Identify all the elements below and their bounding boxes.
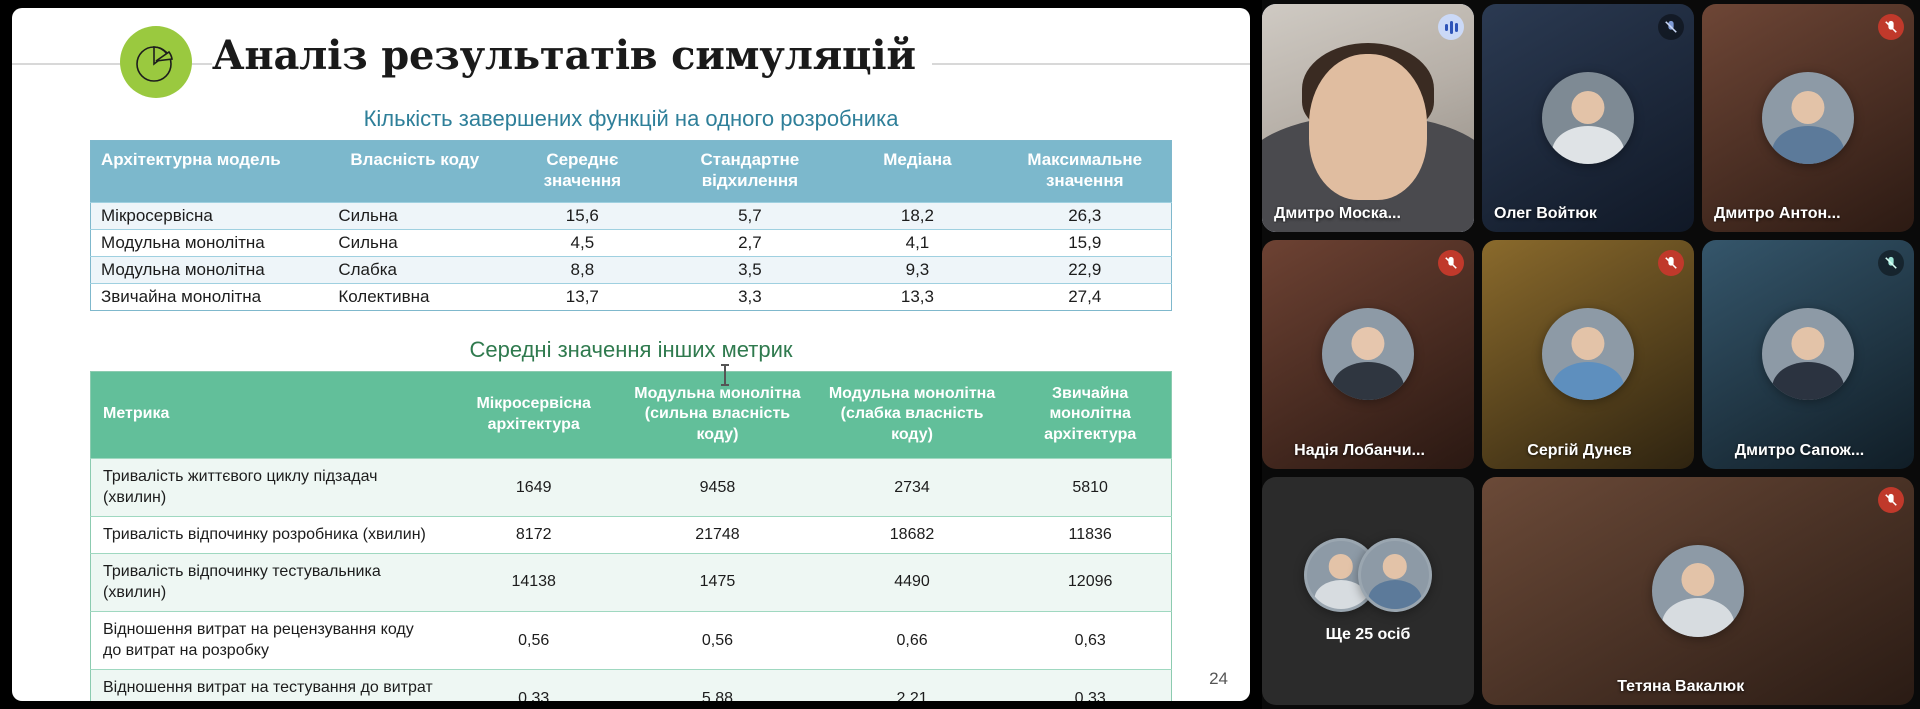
cell: 3,5 [663,256,836,283]
mic-muted-icon [1878,250,1904,276]
avatar [1542,72,1634,164]
table-header-row: Метрика Мікросервісна архітектура Модуль… [91,371,1172,458]
avatar [1652,545,1744,637]
cell: 0,33 [447,670,620,701]
table-row: Тривалість відпочинку розробника (хвилин… [91,517,1172,554]
participant-tile-tetiana-vakaliuk[interactable]: Тетяна Вакалюк [1482,477,1914,705]
table-row: Мікросервісна Сильна 15,6 5,7 18,2 26,3 [91,202,1172,229]
cell: Звичайна монолітна [91,283,329,310]
cell: 18,2 [836,202,998,229]
cell: Відношення витрат на тестування до витра… [91,670,448,701]
cell: Сильна [328,229,501,256]
cell: Модульна монолітна [91,256,329,283]
cell: 1475 [620,553,815,611]
column-header: Стандартне відхилення [663,141,836,203]
cell: 27,4 [999,283,1172,310]
cell: Тривалість відпочинку тестувальника (хви… [91,553,448,611]
cell: 5810 [1009,458,1171,516]
mic-muted-icon [1438,250,1464,276]
column-header: Середнє значення [501,141,663,203]
participant-tile-serhii-duniev[interactable]: Сергій Дунєв [1482,240,1694,468]
participant-name: Сергій Дунєв [1482,442,1677,460]
cell: 18682 [815,517,1010,554]
column-header: Максимальне значення [999,141,1172,203]
avatar [1322,308,1414,400]
cell: 1649 [447,458,620,516]
table-row: Відношення витрат на рецензування коду д… [91,611,1172,669]
table1-caption: Кількість завершених функцій на одного р… [12,106,1250,132]
participant-name: Надія Лобанчи... [1262,442,1457,460]
participant-video [1262,4,1474,232]
cell: 15,9 [999,229,1172,256]
page-title: Аналіз результатів симуляцій [212,32,932,79]
column-header: Архітектурна модель [91,141,329,203]
cell: 9,3 [836,256,998,283]
slide-page-number: 24 [1209,669,1228,689]
cell: 2734 [815,458,1010,516]
cell: 3,3 [663,283,836,310]
mic-muted-icon [1878,14,1904,40]
table1-container: Архітектурна модель Власність коду Серед… [12,140,1250,311]
participant-name: Дмитро Сапож... [1702,442,1897,460]
participant-name: Дмитро Антон... [1714,205,1841,223]
cell: 2,21 [815,670,1010,701]
slide-header: Аналіз результатів симуляцій [12,8,1250,100]
avatar [1358,538,1432,612]
cell: Відношення витрат на рецензування коду д… [91,611,448,669]
cell: Слабка [328,256,501,283]
cell: 0,63 [1009,611,1171,669]
table-row: Звичайна монолітна Колективна 13,7 3,3 1… [91,283,1172,310]
table-row: Модульна монолітна Сильна 4,5 2,7 4,1 15… [91,229,1172,256]
table2-container: Метрика Мікросервісна архітектура Модуль… [12,371,1250,702]
avatar-group [1314,538,1422,612]
table-row: Тривалість життєвого циклу підзадач (хви… [91,458,1172,516]
participant-name: Тетяна Вакалюк [1482,678,1879,696]
participant-name: Дмитро Москa... [1274,205,1401,223]
participant-tile-dmytro-anton[interactable]: Дмитро Антон... [1702,4,1914,232]
cell: Тривалість життєвого циклу підзадач (хви… [91,458,448,516]
column-header: Мікросервісна архітектура [447,371,620,458]
participant-tile-more-people[interactable]: Ще 25 осіб [1262,477,1474,705]
shared-screen-stage[interactable]: Аналіз результатів симуляцій Кількість з… [0,0,1262,709]
cell: Модульна монолітна [91,229,329,256]
cell: 8172 [447,517,620,554]
table-row: Модульна монолітна Слабка 8,8 3,5 9,3 22… [91,256,1172,283]
cell: 2,7 [663,229,836,256]
table-row: Відношення витрат на тестування до витра… [91,670,1172,701]
cell: 21748 [620,517,815,554]
cell: 15,6 [501,202,663,229]
cell: 0,33 [1009,670,1171,701]
mic-muted-icon [1658,250,1684,276]
cell: Мікросервісна [91,202,329,229]
cell: 5,88 [620,670,815,701]
cell: 0,66 [815,611,1010,669]
participant-tile-nadiia-lobanchy[interactable]: Надія Лобанчи... [1262,240,1474,468]
meeting-screen-share-view: Аналіз результатів симуляцій Кількість з… [0,0,1920,709]
cell: 22,9 [999,256,1172,283]
audio-level-icon [1438,14,1464,40]
avatar [1762,72,1854,164]
cell: 0,56 [447,611,620,669]
text-cursor-icon [724,364,726,386]
cell: Колективна [328,283,501,310]
cell: 13,7 [501,283,663,310]
cell: 4490 [815,553,1010,611]
cell: 0,56 [620,611,815,669]
avatar [1762,308,1854,400]
cell: 4,5 [501,229,663,256]
more-participants-label: Ще 25 осіб [1326,626,1411,644]
cell: 11836 [1009,517,1171,554]
cell: Тривалість відпочинку розробника (хвилин… [91,517,448,554]
column-header: Власність коду [328,141,501,203]
table-header-row: Архітектурна модель Власність коду Серед… [91,141,1172,203]
column-header: Модульна монолітна (слабка власність код… [815,371,1010,458]
participant-tile-dmytro-sapozh[interactable]: Дмитро Сапож... [1702,240,1914,468]
table2-caption: Середні значення інших метрик [12,337,1250,363]
column-header: Метрика [91,371,448,458]
column-header: Звичайна монолітна архітектура [1009,371,1171,458]
column-header: Модульна монолітна (сильна власність код… [620,371,815,458]
pie-chart-icon [120,26,192,98]
avatar [1542,308,1634,400]
cell: 14138 [447,553,620,611]
completed-functions-table: Архітектурна модель Власність коду Серед… [90,140,1172,311]
column-header: Медіана [836,141,998,203]
participant-grid: Дмитро Москa... Олег Войтюк Дмитро Антон… [1262,0,1920,709]
cell: 12096 [1009,553,1171,611]
participant-tile-dmytro-moska[interactable]: Дмитро Москa... [1262,4,1474,232]
presentation-slide[interactable]: Аналіз результатів симуляцій Кількість з… [12,8,1250,701]
cell: 5,7 [663,202,836,229]
average-metrics-table: Метрика Мікросервісна архітектура Модуль… [90,371,1172,702]
cell: 4,1 [836,229,998,256]
cell: 26,3 [999,202,1172,229]
cell: 13,3 [836,283,998,310]
participant-tile-oleh-voitiuk[interactable]: Олег Войтюк [1482,4,1694,232]
cell: Сильна [328,202,501,229]
mic-muted-icon [1658,14,1684,40]
cell: 8,8 [501,256,663,283]
participant-name: Олег Войтюк [1494,205,1597,223]
mic-muted-icon [1878,487,1904,513]
table-row: Тривалість відпочинку тестувальника (хви… [91,553,1172,611]
cell: 9458 [620,458,815,516]
